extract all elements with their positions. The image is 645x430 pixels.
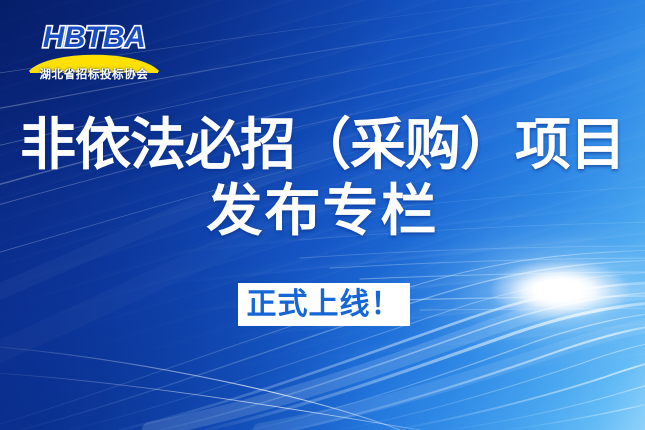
hbtba-logo: HBTBA 湖北省招标投标协会 [28, 17, 160, 85]
headline-line-2: 发布专栏 [0, 178, 645, 244]
launch-badge-label: 正式上线！ [247, 288, 402, 322]
launch-badge: 正式上线！ [238, 283, 410, 326]
logo-subtitle: 湖北省招标投标协会 [28, 68, 160, 82]
headline-line-1: 非依法必招（采购）项目 [0, 112, 645, 178]
headline-block: 非依法必招（采购）项目 发布专栏 [0, 112, 645, 244]
promo-banner: HBTBA 湖北省招标投标协会 非依法必招（采购）项目 发布专栏 正式上线！ [0, 0, 645, 430]
